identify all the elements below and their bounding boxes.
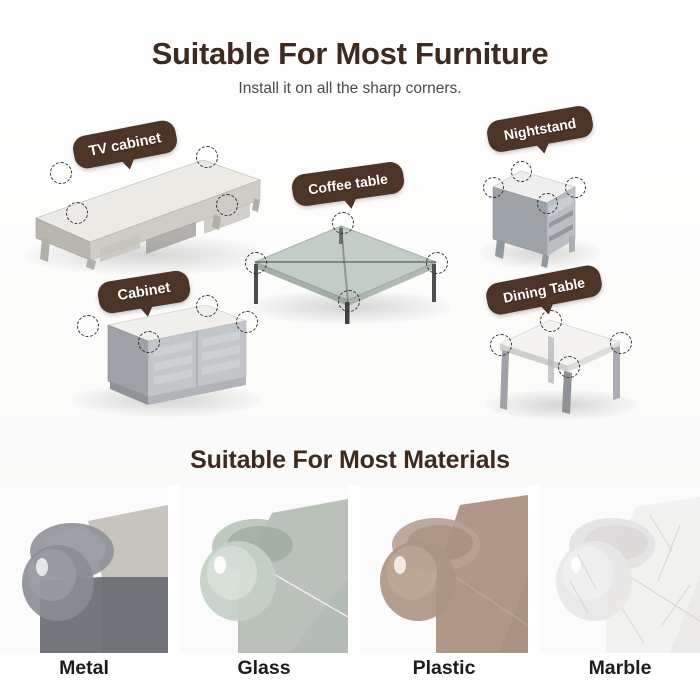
material-label-marble: Marble — [540, 657, 700, 680]
corner-marker — [565, 177, 586, 198]
badge-label: Dining Table — [502, 274, 586, 306]
product-infographic: Suitable For Most Furniture Install it o… — [0, 0, 700, 700]
badge-label: Cabinet — [116, 280, 171, 304]
badge-nightstand: Nightstand — [485, 104, 595, 154]
materials-section: Metal Glass Plastic Marble — [0, 485, 700, 700]
corner-marker — [332, 212, 354, 234]
corner-marker — [338, 290, 360, 312]
corner-marker — [50, 162, 72, 184]
badge-label: TV cabinet — [87, 130, 162, 160]
page-subtitle: Install it on all the sharp corners. — [0, 80, 700, 98]
corner-marker — [66, 202, 88, 224]
page-title: Suitable For Most Furniture — [0, 36, 700, 72]
furniture-tv-cabinet — [28, 150, 263, 270]
material-label-metal: Metal — [0, 657, 168, 680]
furniture-nightstand — [485, 165, 595, 270]
badge-coffee-table: Coffee table — [290, 160, 405, 207]
badge-label: Coffee table — [307, 171, 389, 198]
badge-dining-table: Dining Table — [484, 263, 604, 317]
corner-marker — [426, 252, 448, 274]
furniture-cabinet — [78, 305, 253, 415]
furniture-coffee-table — [246, 214, 451, 324]
corner-marker — [216, 194, 238, 216]
material-label-plastic: Plastic — [360, 657, 528, 680]
furniture-section: Suitable For Most Furniture Install it o… — [0, 0, 700, 485]
corner-marker — [196, 295, 218, 317]
materials-row — [0, 485, 700, 653]
corner-marker — [236, 311, 258, 333]
furniture-dining-table — [492, 310, 632, 420]
material-photo-plastic — [360, 485, 528, 653]
corner-marker — [490, 334, 512, 356]
material-label-glass: Glass — [180, 657, 348, 680]
corner-marker — [558, 356, 580, 378]
corner-marker — [483, 177, 504, 198]
material-photo-glass — [180, 485, 348, 653]
corner-marker — [196, 146, 218, 168]
corner-marker — [537, 193, 558, 214]
corner-marker — [77, 315, 99, 337]
badge-label: Nightstand — [503, 115, 578, 143]
material-photo-marble — [540, 485, 700, 653]
material-photo-metal — [0, 485, 168, 653]
corner-marker — [610, 332, 632, 354]
corner-marker — [511, 161, 532, 182]
corner-marker — [245, 252, 267, 274]
materials-title: Suitable For Most Materials — [0, 446, 700, 475]
corner-marker — [138, 331, 160, 353]
